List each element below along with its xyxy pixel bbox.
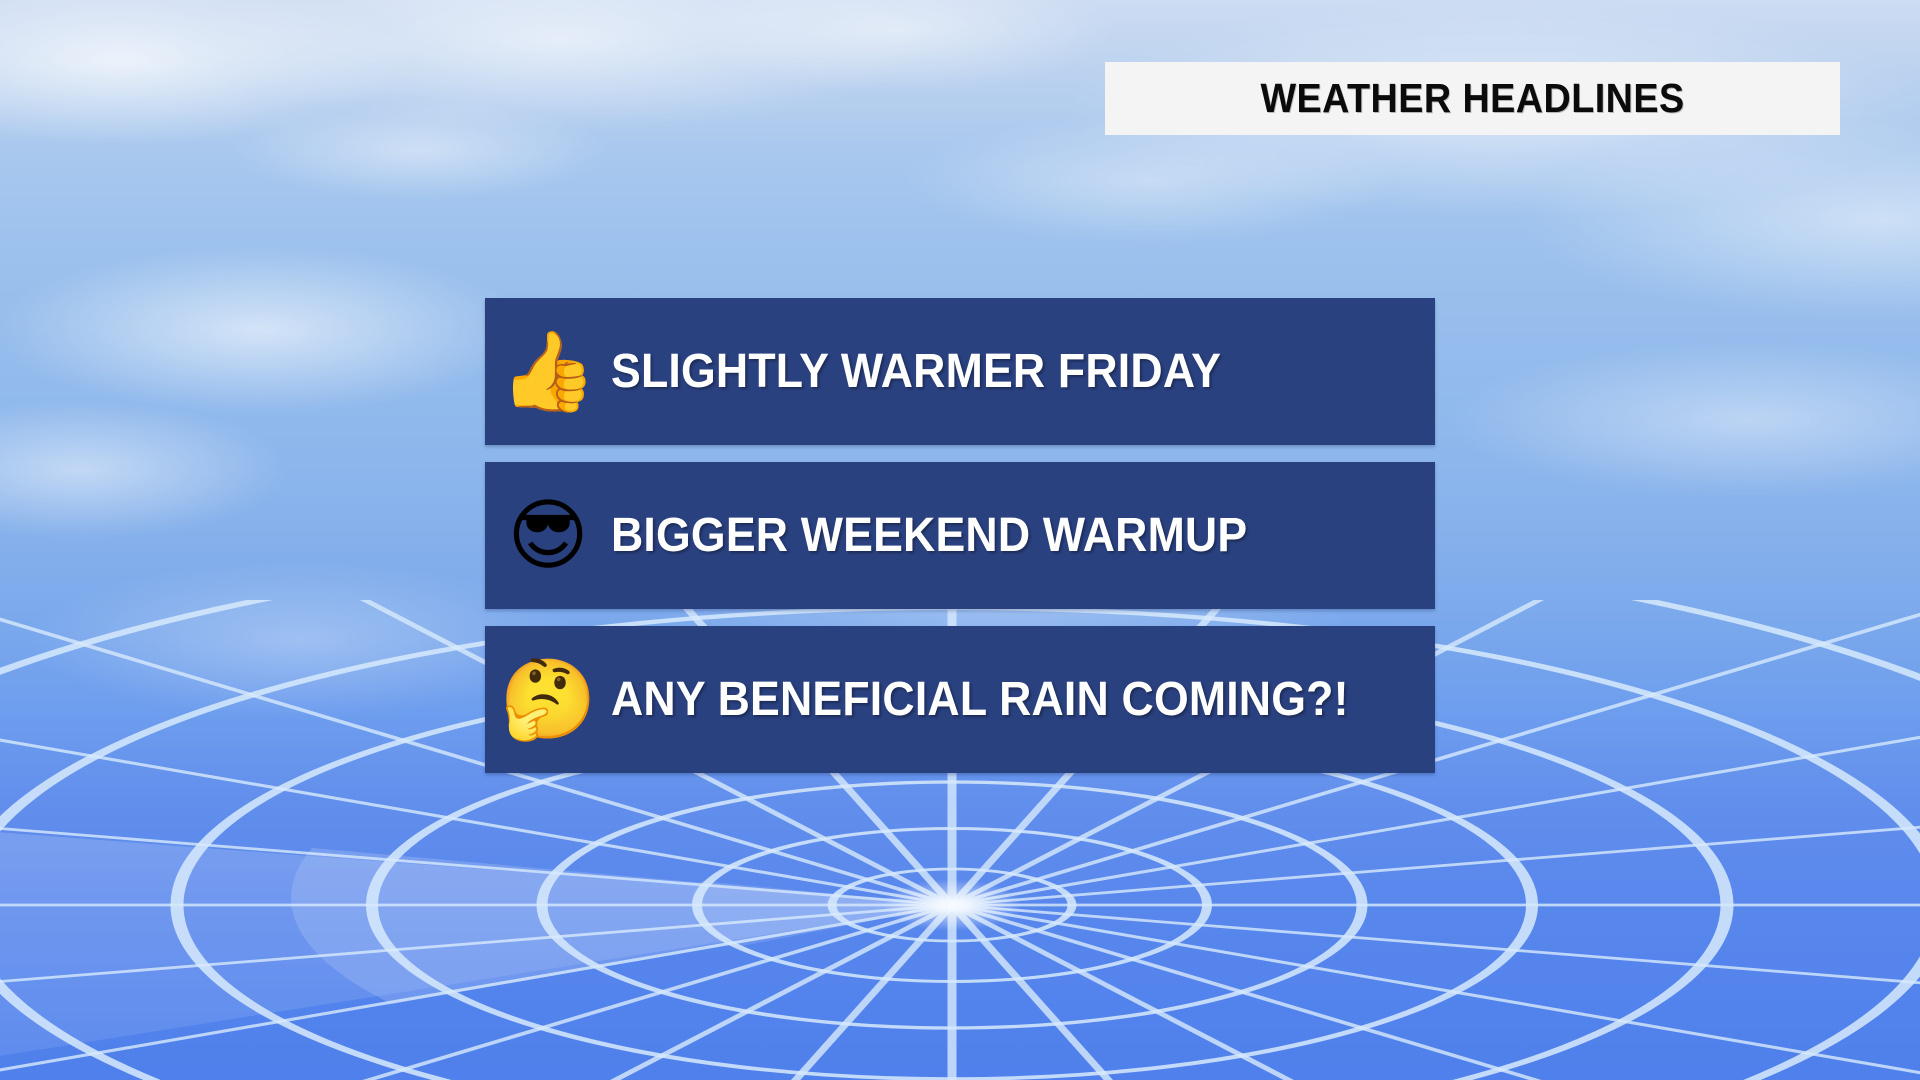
headline-item-1[interactable]: 👍 SLIGHTLY WARMER FRIDAY	[485, 298, 1435, 445]
smiling-face-with-sunglasses-icon: 😎	[485, 497, 611, 575]
headline-item-3[interactable]: 🤔 ANY BENEFICIAL RAIN COMING?!	[485, 626, 1435, 773]
headline-text-1: SLIGHTLY WARMER FRIDAY	[611, 344, 1221, 399]
weather-headlines-header-panel: WEATHER HEADLINES	[1105, 62, 1840, 135]
weather-headlines-graphic: WEATHER HEADLINES 👍 SLIGHTLY WARMER FRID…	[0, 0, 1920, 1080]
headline-text-2: BIGGER WEEKEND WARMUP	[611, 508, 1247, 563]
thumbs-up-icon: 👍	[485, 333, 611, 411]
headline-text-3: ANY BENEFICIAL RAIN COMING?!	[611, 672, 1349, 727]
headline-list: 👍 SLIGHTLY WARMER FRIDAY 😎 BIGGER WEEKEN…	[485, 298, 1435, 773]
headline-item-2[interactable]: 😎 BIGGER WEEKEND WARMUP	[485, 462, 1435, 609]
page-title: WEATHER HEADLINES	[1260, 75, 1684, 122]
thinking-face-icon: 🤔	[485, 661, 611, 739]
